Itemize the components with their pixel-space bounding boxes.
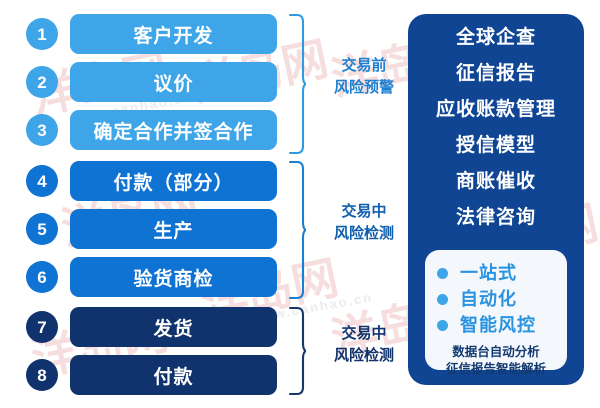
step-number-badge: 1 (26, 18, 58, 50)
process-flow-column: 1 客户开发 2 议价 3 确定合作并签合作 4 付款（部分） 5 生产 6 验… (0, 0, 300, 408)
footnote-credit-report-parsing: 征信报告智能解析 (425, 361, 567, 378)
bullet-dot-icon (437, 268, 448, 279)
step-label-pill[interactable]: 付款（部分） (70, 161, 277, 201)
step-number-badge: 2 (26, 66, 58, 98)
step-number-badge: 8 (26, 359, 58, 391)
step-label-pill[interactable]: 客户开发 (70, 14, 277, 54)
footnotes-block: 数据台自动分析 征信报告智能解析 (425, 344, 567, 378)
footnote-data-platform-analysis: 数据台自动分析 (425, 344, 567, 361)
service-item-global-company-search[interactable]: 全球企查 (408, 28, 584, 47)
phase-label-line1: 交易中 (316, 323, 412, 345)
bullet-dot-icon (437, 320, 448, 331)
phase-label-line2: 风险预警 (316, 77, 412, 99)
flow-step-8[interactable]: 8 付款 (0, 354, 300, 396)
flow-step-7[interactable]: 7 发货 (0, 306, 300, 348)
flow-step-5[interactable]: 5 生产 (0, 208, 300, 250)
step-label-pill[interactable]: 生产 (70, 209, 277, 249)
step-label-pill[interactable]: 付款 (70, 355, 277, 395)
highlight-label: 一站式 (460, 264, 517, 282)
service-item-credit-model[interactable]: 授信模型 (408, 136, 584, 155)
flow-step-3[interactable]: 3 确定合作并签合作 (0, 109, 300, 151)
step-label-pill[interactable]: 确定合作并签合作 (70, 110, 277, 150)
service-item-receivables-management[interactable]: 应收账款管理 (408, 100, 584, 119)
step-number-badge: 6 (26, 261, 58, 293)
highlight-item-smart-risk-control: 智能风控 (425, 312, 567, 338)
phase-label-line1: 交易前 (316, 55, 412, 77)
flow-step-2[interactable]: 2 议价 (0, 61, 300, 103)
flow-step-1[interactable]: 1 客户开发 (0, 13, 300, 55)
phase-group-label: 交易中 风险检测 (316, 323, 412, 367)
flow-step-4[interactable]: 4 付款（部分） (0, 160, 300, 202)
bracket-icon (288, 160, 306, 300)
step-number-badge: 5 (26, 213, 58, 245)
highlight-item-one-stop: 一站式 (425, 260, 567, 286)
highlights-card: 一站式 自动化 智能风控 数据台自动分析 征信报告智能解析 (425, 250, 567, 370)
step-label-pill[interactable]: 议价 (70, 62, 277, 102)
step-number-badge: 3 (26, 114, 58, 146)
highlight-label: 自动化 (460, 290, 517, 308)
service-item-credit-report[interactable]: 征信报告 (408, 64, 584, 83)
phase-group-label: 交易前 风险预警 (316, 55, 412, 99)
phase-label-line1: 交易中 (316, 201, 412, 223)
bullet-dot-icon (437, 294, 448, 305)
bracket-icon (288, 13, 306, 155)
step-label-pill[interactable]: 发货 (70, 307, 277, 347)
flow-step-6[interactable]: 6 验货商检 (0, 256, 300, 298)
step-number-badge: 4 (26, 165, 58, 197)
phase-group-label: 交易中 风险检测 (316, 201, 412, 245)
phase-label-line2: 风险检测 (316, 223, 412, 245)
step-number-badge: 7 (26, 311, 58, 343)
bracket-icon (288, 306, 306, 396)
service-item-legal-consulting[interactable]: 法律咨询 (408, 208, 584, 227)
phase-label-line2: 风险检测 (316, 345, 412, 367)
service-item-debt-collection[interactable]: 商账催收 (408, 172, 584, 191)
highlight-item-automation: 自动化 (425, 286, 567, 312)
services-panel: 全球企查 征信报告 应收账款管理 授信模型 商账催收 法律咨询 一站式 自动化 … (408, 14, 584, 385)
step-label-pill[interactable]: 验货商检 (70, 257, 277, 297)
highlight-label: 智能风控 (460, 316, 536, 334)
